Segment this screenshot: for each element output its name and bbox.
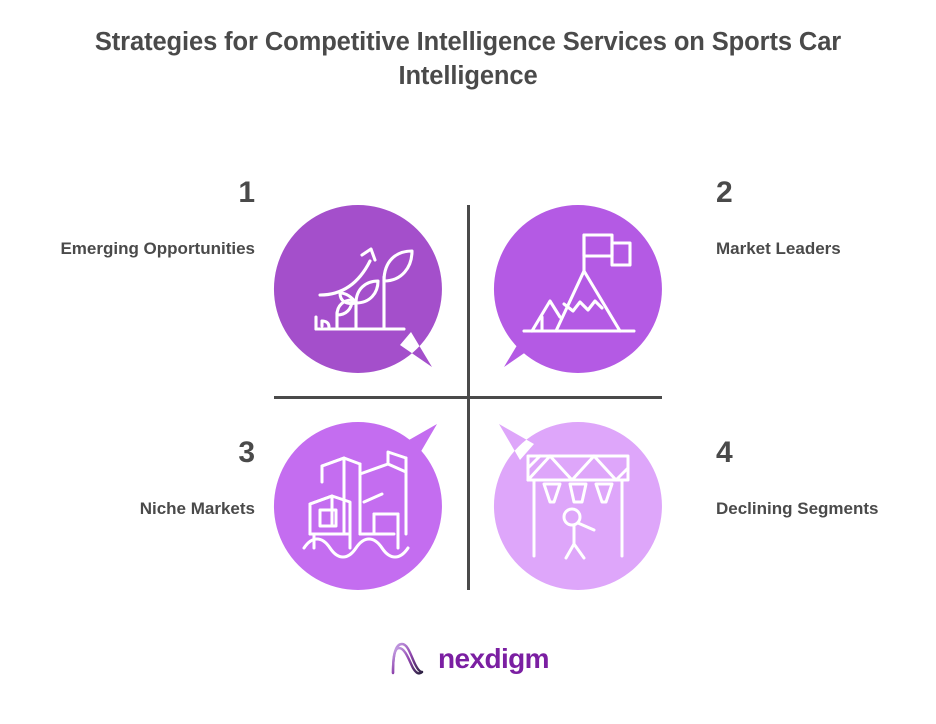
page-title: Strategies for Competitive Intelligence … [68,26,868,94]
bubble-shape-2 [494,205,662,373]
quadrant-2-number: 2 [716,178,931,208]
bubble-shape-3 [274,422,442,590]
quadrant-3-bubble[interactable] [274,422,442,590]
bubble-shape-4 [494,422,662,590]
quadrant-3-label: Niche Markets [40,496,255,522]
quadrant-1-bubble[interactable] [274,205,442,373]
quadrant-4-text: 4 Declining Segments [716,438,931,522]
nexdigm-wave-n-icon [387,640,427,678]
bubble-shape-1 [274,205,442,373]
quadrant-3-number: 3 [40,438,255,468]
quadrant-1-number: 1 [40,178,255,208]
quadrant-matrix: 1 Emerging Opportunities 2 Market Leader… [0,150,936,610]
brand-name: nexdigm [438,645,549,673]
quadrant-2-label: Market Leaders [716,236,931,262]
divider-horizontal [274,396,662,399]
quadrant-2-text: 2 Market Leaders [716,178,931,262]
quadrant-1-label: Emerging Opportunities [40,236,255,262]
brand-logo: nexdigm [0,640,936,678]
quadrant-4-bubble[interactable] [494,422,662,590]
quadrant-2-bubble[interactable] [494,205,662,373]
quadrant-4-number: 4 [716,438,931,468]
quadrant-4-label: Declining Segments [716,496,931,522]
quadrant-1-text: 1 Emerging Opportunities [40,178,255,262]
quadrant-3-text: 3 Niche Markets [40,438,255,522]
